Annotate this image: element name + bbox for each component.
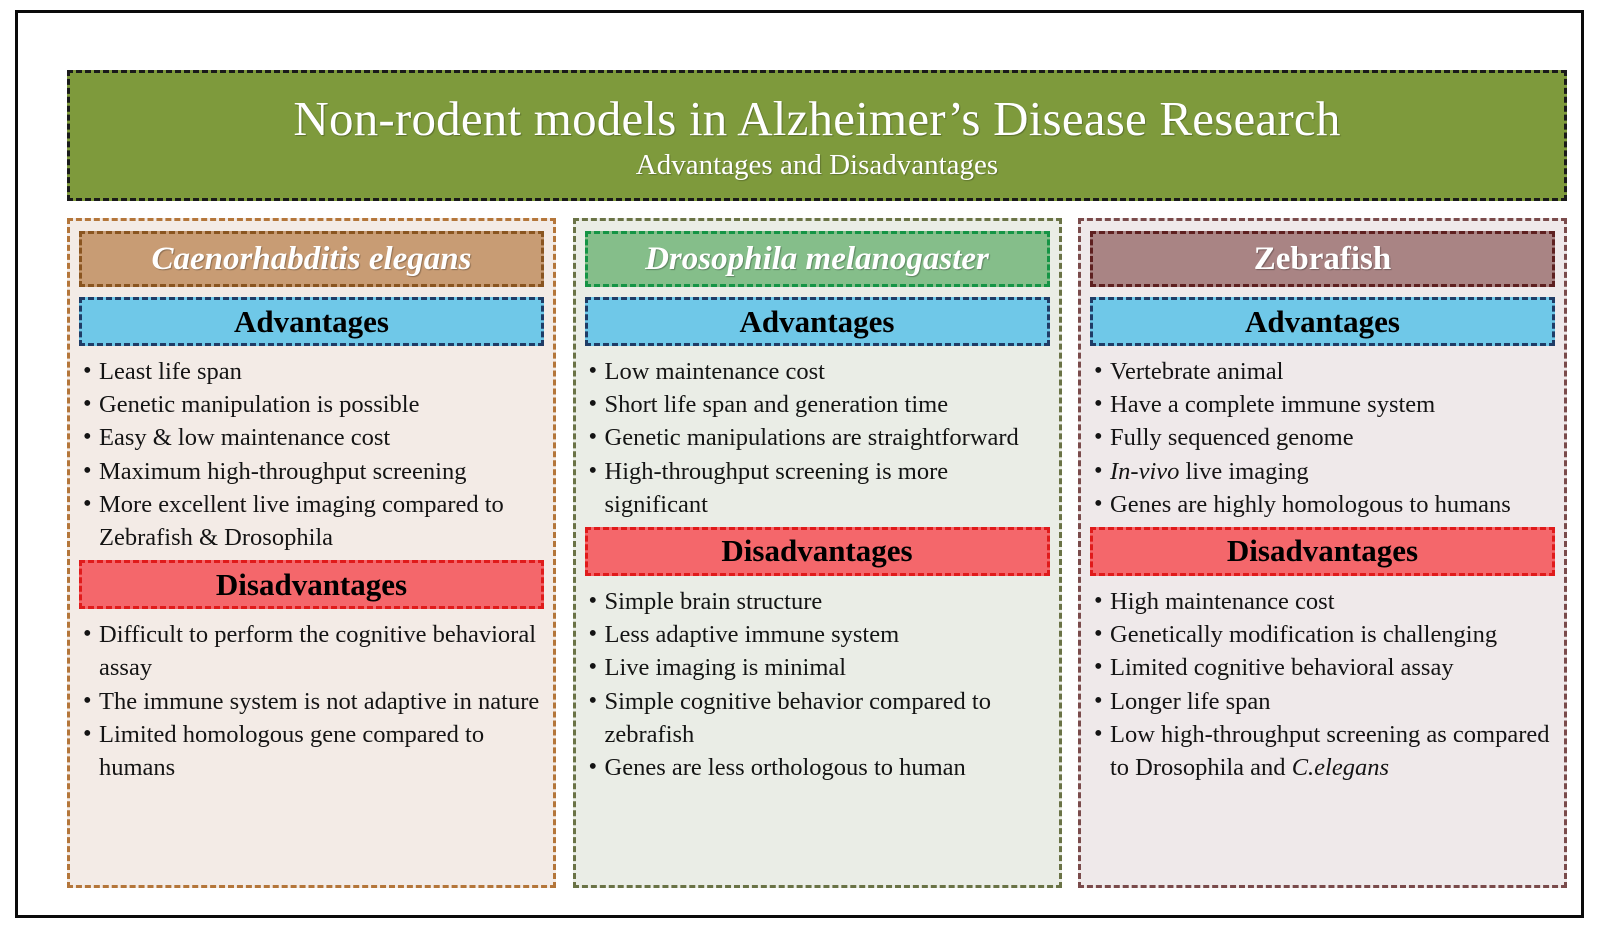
list-item: Difficult to perform the cognitive behav… bbox=[83, 618, 542, 684]
list-item: Have a complete immune system bbox=[1094, 388, 1553, 421]
advantages-list-column-2: Low maintenance cost Short life span and… bbox=[585, 346, 1050, 527]
advantages-label: Advantages bbox=[1245, 304, 1400, 340]
advantages-list-column-3: Vertebrate animal Have a complete immune… bbox=[1090, 346, 1555, 527]
advantages-label: Advantages bbox=[739, 304, 894, 340]
list-item: Vertebrate animal bbox=[1094, 355, 1553, 388]
list-item: Low high-throughput screening as compare… bbox=[1094, 718, 1553, 784]
species-name: Drosophila melanogaster bbox=[645, 241, 989, 278]
list-item: Low maintenance cost bbox=[589, 355, 1048, 388]
disadvantages-label: Disadvantages bbox=[1227, 533, 1418, 569]
comparison-columns: Caenorhabditis elegans Advantages Least … bbox=[67, 218, 1567, 888]
list-item: High maintenance cost bbox=[1094, 585, 1553, 618]
column-caenorhabditis-elegans: Caenorhabditis elegans Advantages Least … bbox=[67, 218, 556, 888]
advantages-list-column-1: Least life span Genetic manipulation is … bbox=[79, 346, 544, 560]
list-item: Short life span and generation time bbox=[589, 388, 1048, 421]
spacer bbox=[585, 790, 1050, 875]
disadvantages-bar-column-1: Disadvantages bbox=[79, 560, 544, 609]
list-item: Simple brain structure bbox=[589, 585, 1048, 618]
list-item: Genetic manipulations are straightforwar… bbox=[589, 421, 1048, 454]
list-item: Least life span bbox=[83, 355, 542, 388]
spacer bbox=[1090, 790, 1555, 875]
page-subtitle: Advantages and Disadvantages bbox=[636, 150, 998, 182]
disadvantages-list-column-3: High maintenance cost Genetically modifi… bbox=[1090, 576, 1555, 790]
column-drosophila-melanogaster: Drosophila melanogaster Advantages Low m… bbox=[573, 218, 1062, 888]
list-item: Genetic manipulation is possible bbox=[83, 388, 542, 421]
advantages-bar-column-1: Advantages bbox=[79, 297, 544, 346]
disadvantages-label: Disadvantages bbox=[216, 567, 407, 603]
advantages-bar-column-3: Advantages bbox=[1090, 297, 1555, 346]
disadvantages-label: Disadvantages bbox=[721, 533, 912, 569]
list-item: Longer life span bbox=[1094, 685, 1553, 718]
list-item: Genes are less orthologous to human bbox=[589, 751, 1048, 784]
list-item: High-throughput screening is more signif… bbox=[589, 455, 1048, 521]
species-header-zebrafish: Zebrafish bbox=[1090, 231, 1555, 287]
list-item: More excellent live imaging compared to … bbox=[83, 488, 542, 554]
list-item: Fully sequenced genome bbox=[1094, 421, 1553, 454]
species-header-caenorhabditis-elegans: Caenorhabditis elegans bbox=[79, 231, 544, 287]
species-name: Zebrafish bbox=[1254, 241, 1392, 278]
disadvantages-bar-column-3: Disadvantages bbox=[1090, 527, 1555, 576]
advantages-label: Advantages bbox=[234, 304, 389, 340]
list-item: Limited cognitive behavioral assay bbox=[1094, 651, 1553, 684]
list-item: Simple cognitive behavior compared to ze… bbox=[589, 685, 1048, 751]
advantages-bar-column-2: Advantages bbox=[585, 297, 1050, 346]
title-banner: Non-rodent models in Alzheimer’s Disease… bbox=[67, 70, 1567, 201]
outer-frame: Non-rodent models in Alzheimer’s Disease… bbox=[15, 10, 1584, 918]
page-title: Non-rodent models in Alzheimer’s Disease… bbox=[293, 93, 1340, 144]
list-item: Genetically modification is challenging bbox=[1094, 618, 1553, 651]
list-item: Limited homologous gene compared to huma… bbox=[83, 718, 542, 784]
column-zebrafish: Zebrafish Advantages Vertebrate animal H… bbox=[1078, 218, 1567, 888]
list-item: Easy & low maintenance cost bbox=[83, 421, 542, 454]
list-item: Genes are highly homologous to humans bbox=[1094, 488, 1553, 521]
disadvantages-list-column-1: Difficult to perform the cognitive behav… bbox=[79, 609, 544, 790]
list-item: The immune system is not adaptive in nat… bbox=[83, 685, 542, 718]
list-item: In-vivo live imaging bbox=[1094, 455, 1553, 488]
list-item: Live imaging is minimal bbox=[589, 651, 1048, 684]
spacer bbox=[79, 790, 544, 875]
species-header-drosophila-melanogaster: Drosophila melanogaster bbox=[585, 231, 1050, 287]
disadvantages-bar-column-2: Disadvantages bbox=[585, 527, 1050, 576]
list-item: Less adaptive immune system bbox=[589, 618, 1048, 651]
species-name: Caenorhabditis elegans bbox=[152, 241, 472, 278]
list-item: Maximum high-throughput screening bbox=[83, 455, 542, 488]
infographic-page: Non-rodent models in Alzheimer’s Disease… bbox=[0, 0, 1599, 943]
disadvantages-list-column-2: Simple brain structure Less adaptive imm… bbox=[585, 576, 1050, 790]
